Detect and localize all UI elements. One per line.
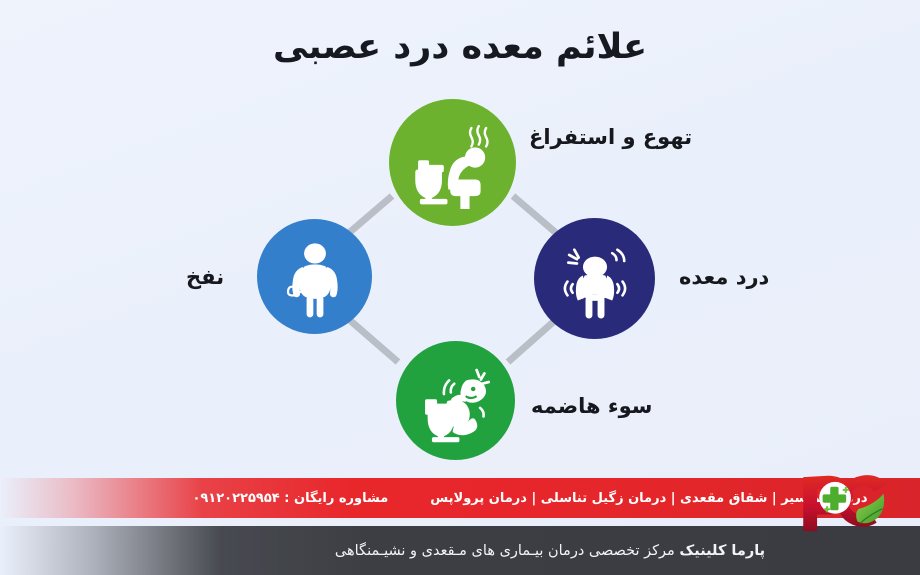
label-indigestion: سوء هاضمه [531, 396, 652, 417]
footer-bar: پارما کلینیک مرکز تخصصی درمان بیـماری ها… [0, 526, 920, 575]
promo-banner: درمان بواسیر | شقاق مقعدی | درمان زگیل ت… [0, 478, 920, 518]
symptom-diagram: تهوع و استفراغ [0, 0, 920, 470]
footer-brand: پارما کلینیک [679, 543, 765, 559]
label-stomach-pain: درد معده [679, 267, 769, 288]
node-bloating[interactable] [257, 219, 372, 334]
label-nausea: تهوع و استفراغ [529, 127, 692, 148]
node-indigestion[interactable] [396, 341, 515, 460]
node-stomach-pain[interactable] [534, 218, 655, 339]
promo-consult-phone[interactable]: مشاوره رایگان : ۰۹۱۲۰۲۲۵۹۵۴ [192, 491, 388, 506]
person-sitting-toilet-icon [413, 358, 499, 444]
node-nausea[interactable] [389, 99, 516, 226]
label-bloating: نفخ [186, 267, 224, 288]
person-bloated-abdomen-icon [273, 235, 357, 319]
person-abdominal-pain-icon [552, 236, 638, 322]
person-vomiting-toilet-icon [407, 117, 499, 209]
leaf-icon [856, 494, 884, 524]
infographic-canvas: علائم معده درد عصبی [0, 0, 920, 575]
footer-tagline: مرکز تخصصی درمان بیـماری های مـقعدی و نش… [335, 543, 675, 559]
clinic-logo[interactable]: <-- gradient stops --> [786, 466, 898, 538]
footer-text: پارما کلینیک مرکز تخصصی درمان بیـماری ها… [155, 543, 765, 559]
